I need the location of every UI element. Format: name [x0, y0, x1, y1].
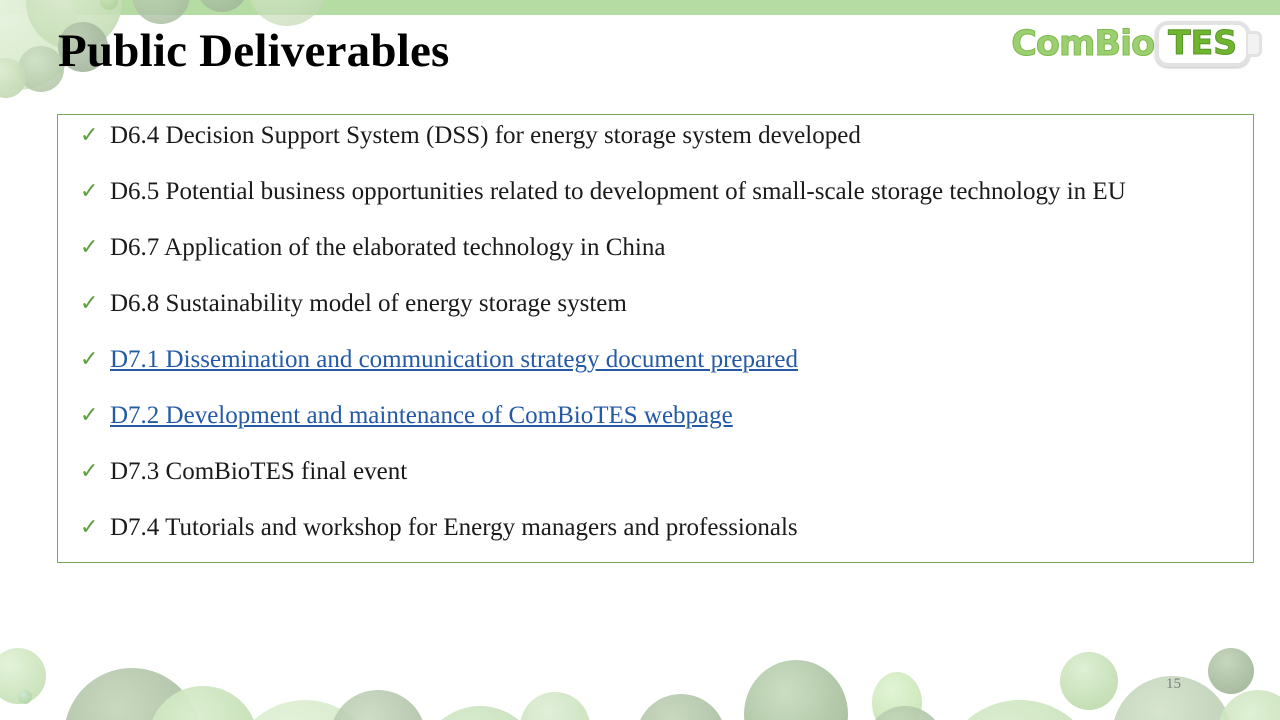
check-icon: ✓ [74, 121, 110, 151]
list-item: ✓ D6.8 Sustainability model of energy st… [74, 289, 1237, 319]
bubble-decoration [420, 706, 540, 720]
deliverable-text: D6.8 Sustainability model of energy stor… [110, 289, 627, 317]
page-title: Public Deliverables [58, 24, 450, 78]
bubble-decoration [64, 668, 200, 720]
bubble-decoration [1208, 648, 1254, 694]
deliverable-text: D6.5 Potential business opportunities re… [110, 177, 1126, 205]
list-item: ✓ D6.4 Decision Support System (DSS) for… [74, 121, 1237, 151]
check-icon: ✓ [74, 401, 110, 431]
list-item: ✓ D7.2 Development and maintenance of Co… [74, 401, 1237, 431]
bubble-decoration [330, 690, 426, 720]
bubble-decoration [872, 672, 922, 720]
bubble-decoration [230, 700, 380, 720]
check-icon: ✓ [74, 457, 110, 487]
top-green-band [0, 0, 1280, 15]
logo-text-combio: ComBio [1011, 27, 1154, 62]
bubble-decoration [148, 686, 258, 720]
bubble-decoration [940, 700, 1100, 720]
battery-terminal-nub [1248, 31, 1262, 57]
bubble-decoration [744, 660, 848, 720]
deliverable-link-d71[interactable]: D7.1 Dissemination and communication str… [110, 345, 798, 373]
bubble-decoration [0, 648, 46, 704]
battery-icon: TES [1155, 21, 1262, 68]
list-item: ✓ D7.3 ComBioTES final event [74, 457, 1237, 487]
deliverable-text: D6.4 Decision Support System (DSS) for e… [110, 121, 861, 149]
combiotes-logo: ComBio TES [1011, 18, 1262, 70]
logo-text-tes: TES [1168, 23, 1237, 62]
list-item: ✓ D7.4 Tutorials and workshop for Energy… [74, 513, 1237, 543]
deliverable-text: D6.7 Application of the elaborated techn… [110, 233, 665, 261]
bubble-decoration [636, 694, 726, 720]
bubble-decoration [0, 58, 26, 98]
bubble-decoration [1060, 652, 1118, 710]
bubble-decoration [1218, 690, 1280, 720]
bubble-decoration [18, 690, 32, 704]
slide: Public Deliverables ComBio TES ✓ D6.4 De… [0, 0, 1280, 720]
bubble-decoration [520, 692, 590, 720]
battery-body: TES [1155, 21, 1250, 68]
deliverables-list: ✓ D6.4 Decision Support System (DSS) for… [74, 121, 1237, 543]
list-item: ✓ D6.7 Application of the elaborated tec… [74, 233, 1237, 263]
deliverable-text: D7.3 ComBioTES final event [110, 457, 407, 485]
page-number: 15 [1166, 676, 1181, 693]
check-icon: ✓ [74, 289, 110, 319]
check-icon: ✓ [74, 233, 110, 263]
list-item: ✓ D7.1 Dissemination and communication s… [74, 345, 1237, 375]
deliverables-content-box: ✓ D6.4 Decision Support System (DSS) for… [57, 114, 1254, 563]
check-icon: ✓ [74, 513, 110, 543]
bubble-decoration [866, 706, 944, 720]
list-item: ✓ D6.5 Potential business opportunities … [74, 177, 1237, 207]
check-icon: ✓ [74, 177, 110, 207]
check-icon: ✓ [74, 345, 110, 375]
deliverable-link-d72[interactable]: D7.2 Development and maintenance of ComB… [110, 401, 733, 429]
deliverable-text: D7.4 Tutorials and workshop for Energy m… [110, 513, 798, 541]
